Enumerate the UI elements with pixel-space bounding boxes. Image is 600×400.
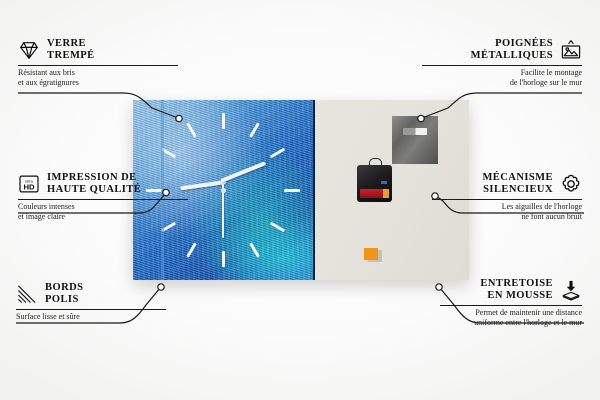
callout-entretoise-en-mousse: ENTRETOISE EN MOUSSE Permet de maintenir… [440,278,582,328]
divider [422,65,582,66]
connector-endpoint [418,115,424,121]
callout-poignees-metalliques: POIGNÉES MÉTALLIQUES Facilite le montage… [422,38,582,88]
divider [16,309,166,310]
callout-sub-line1: Facilite le montage [422,68,582,78]
svg-text:HD: HD [23,183,35,192]
callout-sub-line1: Couleurs intenses [18,202,188,212]
callout-sub-line2: uniforme entre l'horloge et le mur [440,318,582,328]
callout-title-line1: VERRE [47,38,95,50]
callout-title-line1: ENTRETOISE [480,278,553,290]
callout-title-line2: SILENCIEUX [482,184,553,196]
callout-mecanisme-silencieux: MÉCANISME SILENCIEUX Les aiguilles de l'… [432,172,582,222]
callout-sub-line1: Surface lisse et sûre [16,312,166,322]
press-down-icon [560,279,582,301]
callout-verre-trempe: VERRE TREMPÉ Résistant aux bris et aux é… [18,38,178,88]
callout-title-line1: POIGNÉES [471,38,553,50]
divider [440,305,582,306]
divider [432,199,582,200]
ultra-hd-icon: ultra HD [18,173,40,195]
callout-title-line2: POLIS [45,294,83,306]
callout-title-line2: EN MOUSSE [480,290,553,302]
callout-impression-haute-qualite: ultra HD IMPRESSION DE HAUTE QUALITÉ Cou… [18,172,188,222]
hanging-frame-icon [560,39,582,61]
callout-sub-line2: et image claire [18,212,188,222]
callout-sub-line1: Permet de maintenir une distance [440,308,582,318]
callout-sub-line2: et aux égratignures [18,78,178,88]
callout-sub-line2: ne font aucun bruit [432,212,582,222]
callout-bords-polis: BORDS POLIS Surface lisse et sûre [16,282,166,322]
connector-endpoint [176,115,182,121]
polished-edges-icon [16,283,38,305]
callout-title-line1: MÉCANISME [482,172,553,184]
callout-title-line1: IMPRESSION DE [47,172,141,184]
callout-title-line1: BORDS [45,282,83,294]
callout-title-line2: TREMPÉ [47,50,95,62]
callout-sub-line1: Résistant aux bris [18,68,178,78]
callout-sub-line2: de l'horloge sur le mur [422,78,582,88]
callout-title-line2: HAUTE QUALITÉ [47,184,141,196]
divider [18,199,188,200]
callout-sub-line1: Les aiguilles de l'horloge [432,202,582,212]
callout-title-line2: MÉTALLIQUES [471,50,553,62]
infographic-stage: VERRE TREMPÉ Résistant aux bris et aux é… [0,0,600,400]
diamond-icon [18,39,40,61]
divider [18,65,178,66]
gear-icon [560,173,582,195]
